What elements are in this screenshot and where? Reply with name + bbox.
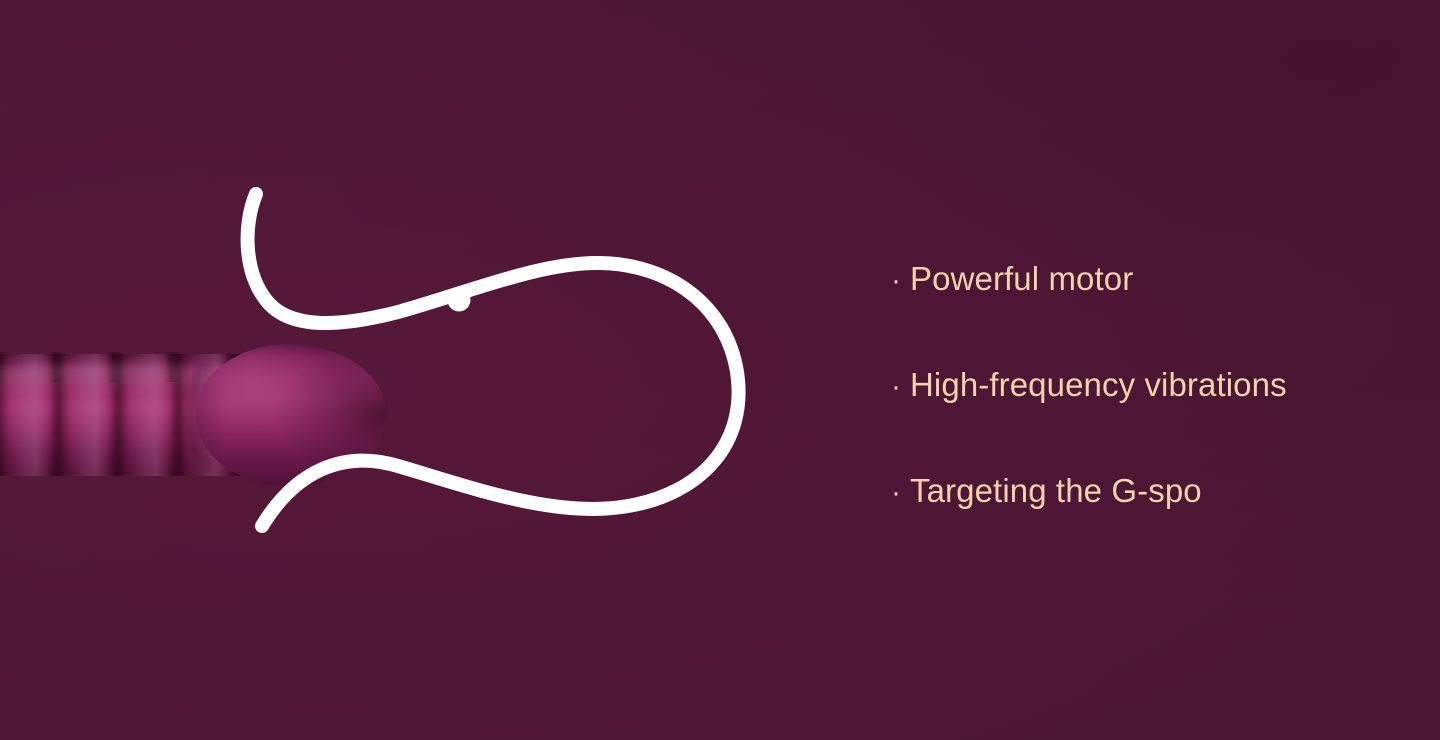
feature-item-powerful-motor: · Powerful motor	[891, 262, 1411, 368]
feature-label: Targeting the G-spo	[910, 474, 1202, 509]
feature-item-high-frequency-vibrations: · High-frequency vibrations	[891, 368, 1411, 474]
banner-canvas: · Powerful motor · High-frequency vibrat…	[0, 0, 1440, 740]
feature-label: High-frequency vibrations	[910, 368, 1287, 403]
product-image	[0, 336, 390, 486]
product-tip-seam	[188, 360, 222, 472]
bullet-icon: ·	[891, 266, 901, 296]
feature-item-targeting-the-g-spot: · Targeting the G-spo	[891, 474, 1411, 580]
product-tip-shadow	[196, 344, 386, 486]
bullet-icon: ·	[891, 478, 901, 508]
feature-label: Powerful motor	[910, 262, 1133, 297]
bullet-icon: ·	[891, 372, 901, 402]
feature-list: · Powerful motor · High-frequency vibrat…	[891, 262, 1411, 580]
